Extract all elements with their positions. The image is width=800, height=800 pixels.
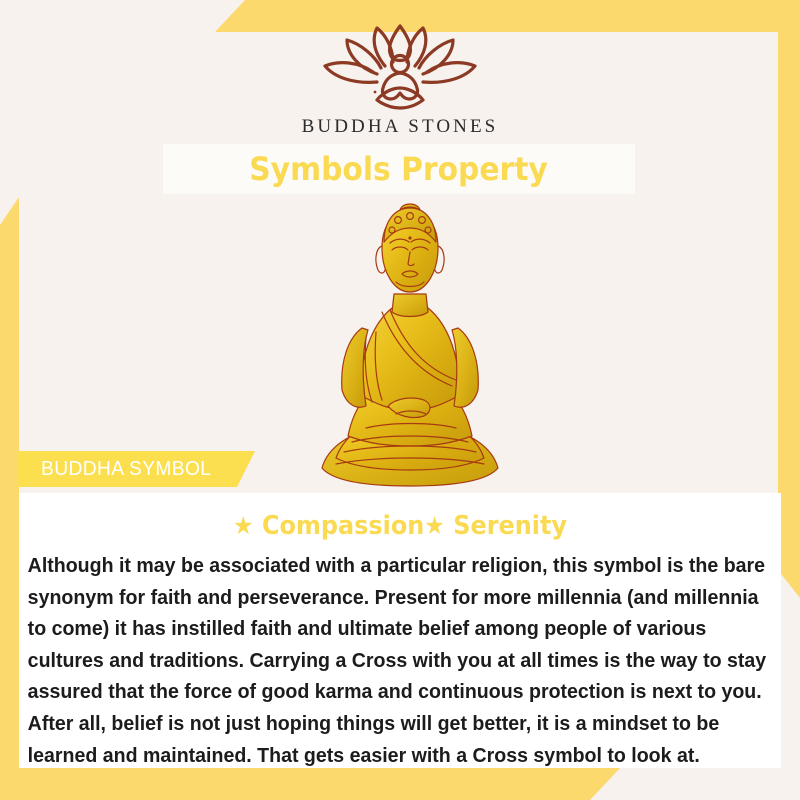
brand-header: BUDDHA STONES <box>0 22 800 138</box>
buddha-symbol-tag: BUDDHA SYMBOL <box>18 451 255 487</box>
virtue-first: Compassion <box>262 511 424 541</box>
star-icon-second: ★ <box>424 511 445 540</box>
buddha-symbol-tag-label: BUDDHA SYMBOL <box>41 458 211 481</box>
brand-wordmark: BUDDHA STONES <box>0 116 800 138</box>
seated-buddha-icon <box>300 200 520 500</box>
poster-canvas: BUDDHA STONES Symbols Property <box>0 0 800 800</box>
virtue-second: Serenity <box>453 511 567 541</box>
frame-left-bar <box>0 197 19 800</box>
page-title: Symbols Property <box>250 150 549 188</box>
title-band: Symbols Property <box>163 144 635 194</box>
buddha-statue-image <box>300 200 520 500</box>
lotus-meditation-figure-icon <box>315 22 485 110</box>
content-panel: ★ Compassion★ Serenity Although it may b… <box>19 493 781 768</box>
frame-bottom-bar <box>0 768 620 800</box>
virtues-line: ★ Compassion★ Serenity <box>49 493 750 541</box>
star-icon-first: ★ <box>233 511 254 540</box>
body-paragraph: Although it may be associated with a par… <box>19 541 789 772</box>
